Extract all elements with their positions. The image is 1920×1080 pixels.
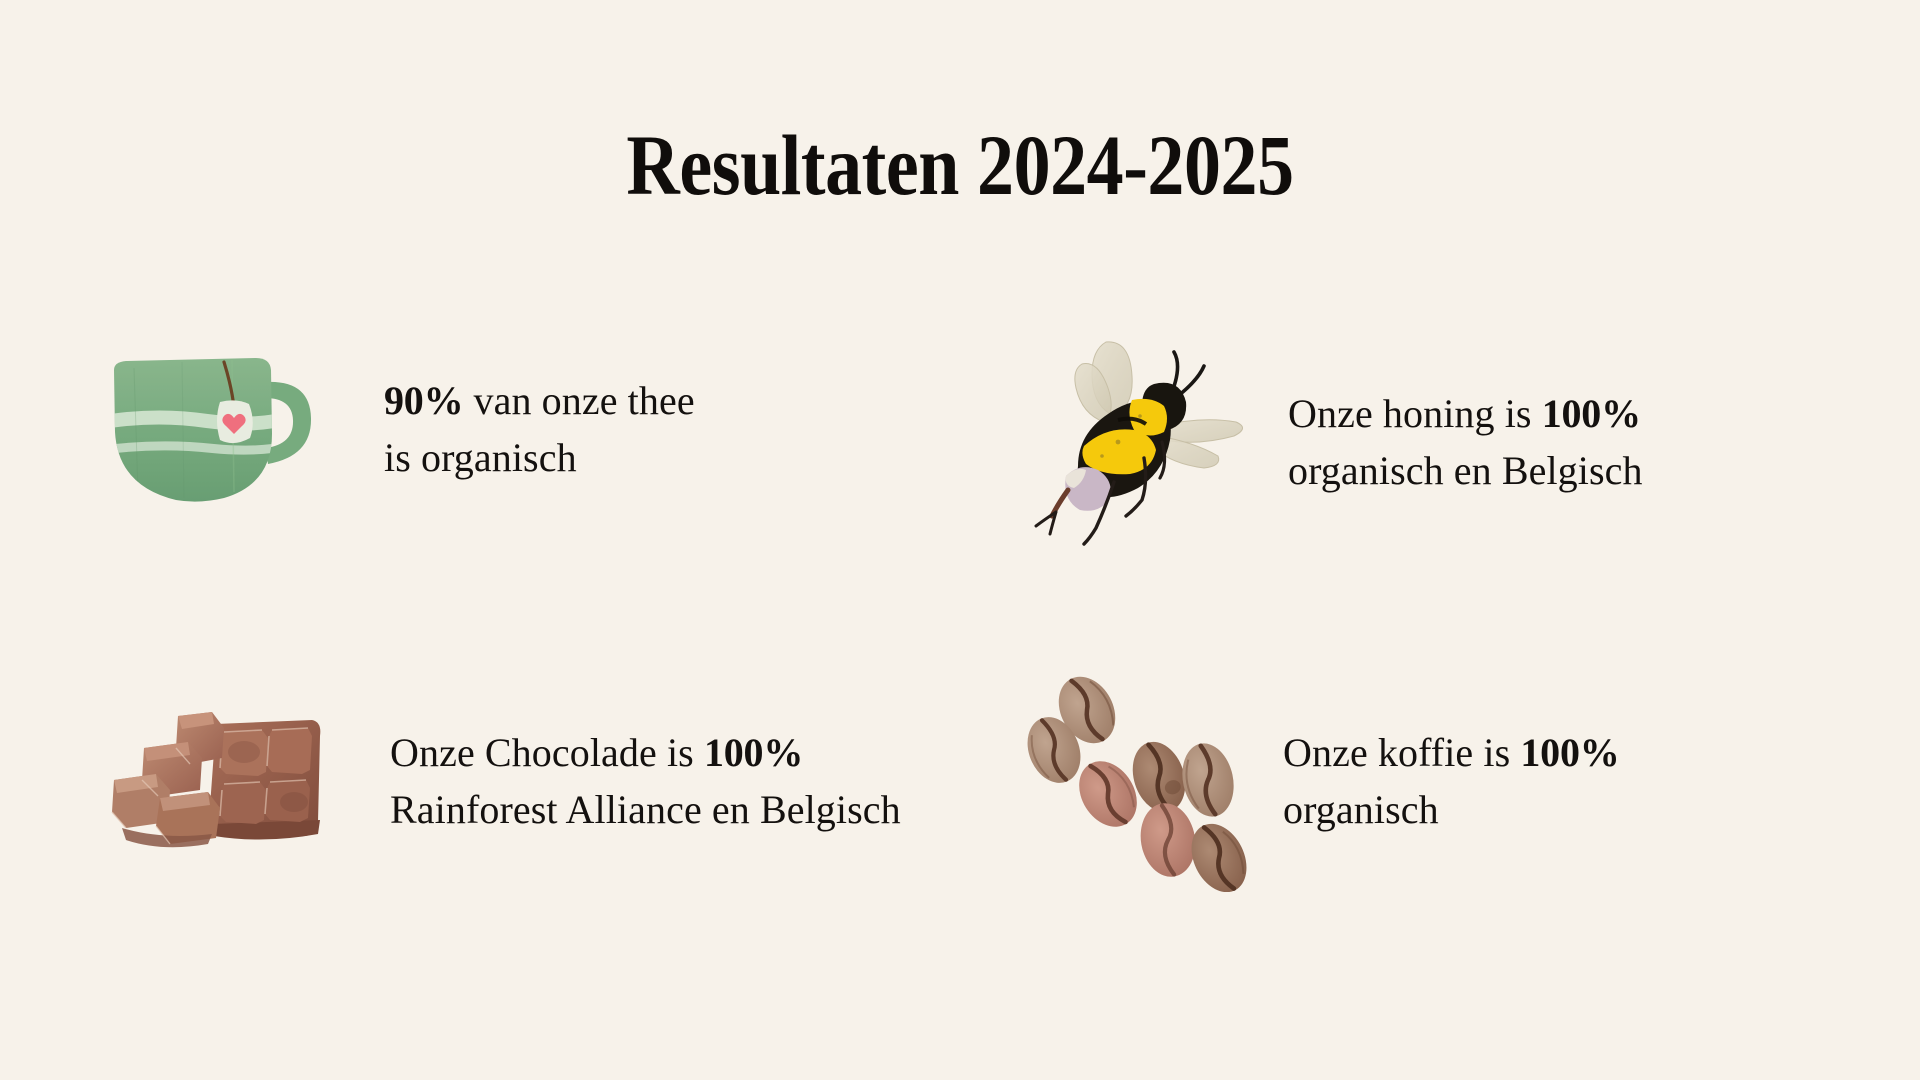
coffee-line1-pre: Onze koffie is <box>1283 730 1520 775</box>
chocolate-line2: Rainforest Alliance en Belgisch <box>390 787 901 832</box>
tea-cup-icon <box>104 352 324 507</box>
chocolate-line1-pre: Onze Chocolade is <box>390 730 704 775</box>
stat-item-chocolate: Onze Chocolade is 100% Rainforest Allian… <box>104 702 990 862</box>
page-title: Resultaten 2024-2025 <box>134 122 1785 208</box>
stat-item-honey: Onze honing is 100% organisch en Belgisc… <box>1022 330 1758 555</box>
tea-percentage: 90% <box>384 378 463 423</box>
stat-text-tea: 90% van onze thee is organisch <box>384 373 804 487</box>
stat-item-tea: 90% van onze thee is organisch <box>104 352 804 507</box>
chocolate-bar-icon <box>104 702 334 862</box>
honey-line1-pre: Onze honing is <box>1288 391 1542 436</box>
tea-line2: is organisch <box>384 435 577 480</box>
stat-text-honey: Onze honing is 100% organisch en Belgisc… <box>1288 386 1758 500</box>
slide-root: Resultaten 2024-2025 <box>0 0 1920 1080</box>
bumblebee-icon <box>1022 330 1252 555</box>
coffee-beans-icon <box>1022 672 1247 892</box>
tea-line1-post: van onze thee <box>463 378 694 423</box>
coffee-line2: organisch <box>1283 787 1439 832</box>
stat-text-coffee: Onze koffie is 100% organisch <box>1283 725 1713 839</box>
stat-item-coffee: Onze koffie is 100% organisch <box>1022 672 1713 892</box>
stat-text-chocolate: Onze Chocolade is 100% Rainforest Allian… <box>390 725 990 839</box>
honey-percentage: 100% <box>1542 391 1641 436</box>
honey-line2: organisch en Belgisch <box>1288 448 1643 493</box>
coffee-percentage: 100% <box>1520 730 1619 775</box>
chocolate-percentage: 100% <box>704 730 803 775</box>
